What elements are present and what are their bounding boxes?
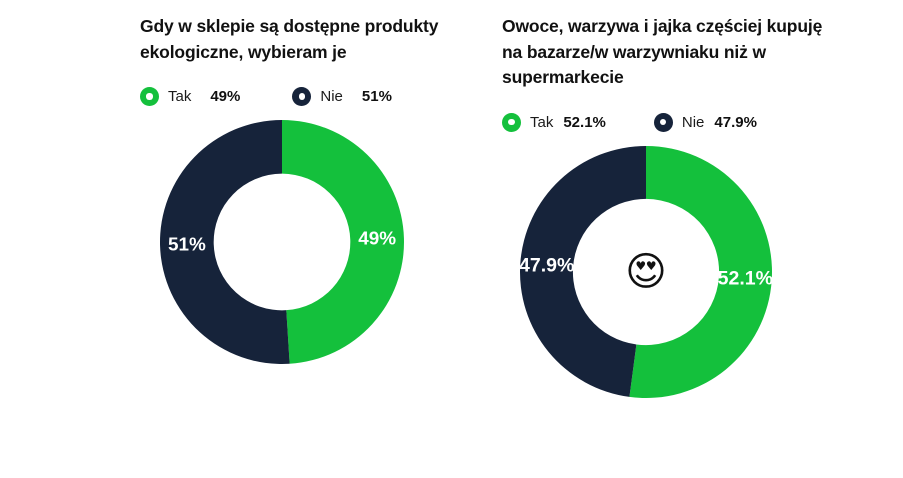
legend-value-nie: 51% bbox=[362, 88, 392, 105]
chart-panel-bazar: Owoce, warzywa i jajka częściej kupuję n… bbox=[495, 0, 855, 398]
donut-slice-label: 49% bbox=[358, 229, 396, 250]
chart-title: Owoce, warzywa i jajka częściej kupuję n… bbox=[502, 0, 832, 91]
legend-item-tak: Tak 52.1% bbox=[502, 113, 606, 132]
chart-legend: Tak 52.1% Nie 47.9% bbox=[502, 110, 855, 134]
legend-item-tak: Tak 49% bbox=[140, 87, 240, 106]
legend-marker-donut-icon bbox=[292, 87, 311, 106]
legend-label-tak: Tak bbox=[530, 114, 553, 131]
charts-board: Gdy w sklepie są dostępne produkty ekolo… bbox=[0, 0, 903, 478]
donut-slice-label: 52.1% bbox=[718, 268, 773, 290]
legend-marker-donut-icon bbox=[140, 87, 159, 106]
legend-marker-donut-icon bbox=[654, 113, 673, 132]
chart-panel-eko: Gdy w sklepie są dostępne produkty ekolo… bbox=[140, 0, 495, 364]
legend-label-nie: Nie bbox=[682, 114, 705, 131]
donut-chart-bazar: 52.1%47.9% 😍 bbox=[520, 146, 772, 398]
donut-chart-eko: 49%51% bbox=[160, 120, 404, 364]
legend-item-nie: Nie 47.9% bbox=[654, 113, 757, 132]
chart-legend: Tak 49% Nie 51% bbox=[140, 84, 495, 108]
legend-label-nie: Nie bbox=[320, 88, 343, 105]
donut-slice-label: 51% bbox=[168, 235, 206, 256]
legend-value-nie: 47.9% bbox=[714, 114, 757, 131]
legend-value-tak: 49% bbox=[210, 88, 240, 105]
donut-svg: 52.1%47.9% bbox=[520, 146, 772, 398]
legend-value-tak: 52.1% bbox=[563, 114, 606, 131]
legend-marker-donut-icon bbox=[502, 113, 521, 132]
legend-item-nie: Nie 51% bbox=[292, 87, 392, 106]
donut-svg: 49%51% bbox=[160, 120, 404, 364]
chart-title: Gdy w sklepie są dostępne produkty ekolo… bbox=[140, 0, 450, 65]
donut-slice-label: 47.9% bbox=[519, 255, 574, 277]
legend-label-tak: Tak bbox=[168, 88, 191, 105]
